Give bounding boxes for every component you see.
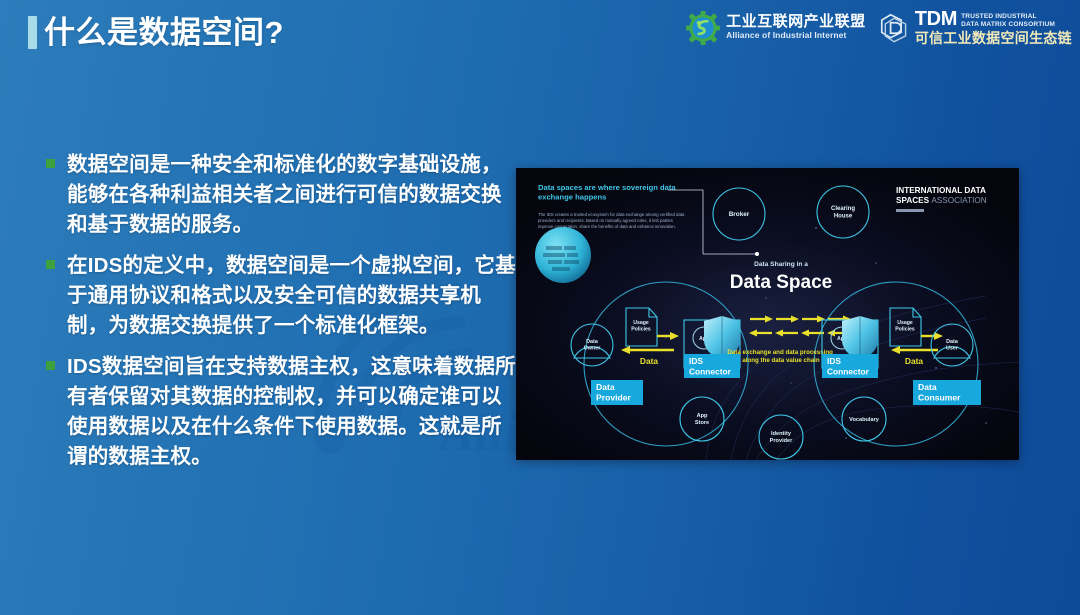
data-label-right: Data bbox=[905, 356, 923, 366]
node-data-user-label: DataUser bbox=[946, 339, 959, 352]
node-app-store-label: AppStore bbox=[695, 413, 709, 426]
tdm-en-line1: TRUSTED INDUSTRIAL bbox=[961, 13, 1055, 20]
list-item: IDS数据空间旨在支持数据主权，这意味着数据所有者保留对其数据的控制权，并可以确… bbox=[46, 352, 516, 472]
data-label-left: Data bbox=[640, 356, 658, 366]
ids-data-space-diagram: Data spaces are where sovereign data exc… bbox=[516, 168, 1019, 460]
logo-group: 工业互联网产业联盟 Alliance of Industrial Interne… bbox=[686, 9, 1072, 46]
usage-policies-label-right: UsagePolicies bbox=[895, 320, 915, 333]
green-gear-icon bbox=[686, 11, 720, 45]
aii-logo: 工业互联网产业联盟 Alliance of Industrial Interne… bbox=[686, 11, 866, 45]
broker-connector-dot bbox=[755, 252, 759, 256]
tdm-cn: 可信工业数据空间生态链 bbox=[915, 30, 1072, 46]
list-item: 数据空间是一种安全和标准化的数字基础设施，能够在各种利益相关者之间进行可信的数据… bbox=[46, 150, 516, 240]
list-item: 在IDS的定义中，数据空间是一个虚拟空间，它基于通用协议和格式以及安全可信的数据… bbox=[46, 251, 516, 341]
bullet-text: IDS数据空间旨在支持数据主权，这意味着数据所有者保留对其数据的控制权，并可以确… bbox=[67, 352, 516, 472]
title-text: 什么是数据空间? bbox=[44, 16, 284, 49]
center-caption: Data exchange and data processing along … bbox=[727, 349, 834, 364]
tdm-abbr: TDM bbox=[915, 9, 957, 29]
idsa-brand-line2: SPACES ASSOCIATION bbox=[896, 196, 987, 205]
aii-logo-en: Alliance of Industrial Internet bbox=[726, 30, 866, 41]
hexagon-outline-icon bbox=[880, 12, 910, 44]
node-vocabulary-label: Vocabulary bbox=[849, 417, 880, 423]
bullet-marker-icon bbox=[46, 159, 55, 168]
title-accent-bar bbox=[28, 16, 37, 49]
bullet-text: 数据空间是一种安全和标准化的数字基础设施，能够在各种利益相关者之间进行可信的数据… bbox=[67, 150, 516, 240]
center-subtitle: Data Sharing in a bbox=[754, 261, 808, 268]
node-identity-provider-label: IdentityProvider bbox=[770, 431, 794, 444]
idsa-brand-line1: INTERNATIONAL DATA bbox=[896, 186, 986, 195]
slide-header: 什么是数据空间? bbox=[0, 0, 1080, 62]
aii-logo-cn: 工业互联网产业联盟 bbox=[726, 14, 866, 30]
page-title: 什么是数据空间? bbox=[28, 16, 284, 49]
diagram-body-text: The IDS creates a trusted ecosystem for … bbox=[538, 212, 686, 229]
tdm-logo: TDM TRUSTED INDUSTRIAL DATA MATRIX CONSO… bbox=[880, 9, 1072, 46]
idsa-brand-rule bbox=[896, 209, 924, 212]
bullet-marker-icon bbox=[46, 260, 55, 269]
bullet-marker-icon bbox=[46, 361, 55, 370]
bullet-text: 在IDS的定义中，数据空间是一个虚拟空间，它基于通用协议和格式以及安全可信的数据… bbox=[67, 251, 516, 341]
node-broker-label: Broker bbox=[729, 211, 750, 218]
center-title: Data Space bbox=[730, 272, 832, 293]
tdm-en-line2: DATA MATRIX CONSORTIUM bbox=[961, 21, 1055, 28]
bullet-list: 数据空间是一种安全和标准化的数字基础设施，能够在各种利益相关者之间进行可信的数据… bbox=[46, 150, 516, 483]
usage-policies-label-left: UsagePolicies bbox=[631, 320, 651, 333]
node-clearing-house-label: ClearingHouse bbox=[831, 206, 855, 220]
